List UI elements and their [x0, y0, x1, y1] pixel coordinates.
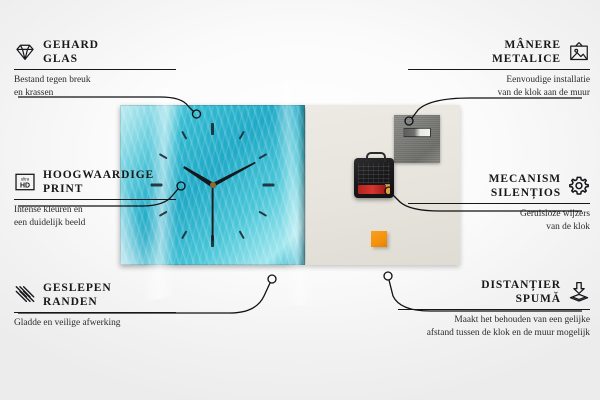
clock-second-hand — [212, 185, 214, 241]
feature-header: GEHARD GLAS — [14, 38, 190, 66]
feature-title: MÂNERE METALICE — [492, 38, 561, 66]
clock-tick — [263, 184, 275, 187]
clock-tick — [258, 153, 267, 159]
clock-hub — [210, 182, 216, 188]
mechanism-texture — [358, 163, 390, 183]
feature-distantier-spuma: DISTANȚIER SPUMĂ Maakt het behouden van … — [384, 278, 590, 340]
feature-desc: Gladde en veilige afwerking — [14, 317, 190, 330]
feature-title: MECANISM SILENȚIOS — [489, 172, 561, 200]
feature-header: DISTANȚIER SPUMĂ — [384, 278, 590, 306]
svg-text:HD: HD — [20, 183, 30, 190]
feature-title: GESLEPEN RANDEN — [43, 281, 112, 309]
clock-minute-hand — [212, 161, 256, 187]
clock-tick — [258, 211, 267, 217]
feature-header: MÂNERE METALICE — [394, 38, 590, 66]
clock-tick — [238, 131, 244, 140]
feature-desc: Intense kleuren en een duidelijk beeld — [14, 204, 190, 229]
spacer-stack-icon — [568, 281, 590, 303]
feature-title: HOOGWAARDIGE PRINT — [43, 168, 154, 196]
mechanism-hanger — [366, 152, 386, 162]
infographic-canvas: GEHARD GLAS Bestand tegen breuk en krass… — [0, 0, 600, 400]
feature-title: GEHARD GLAS — [43, 38, 99, 66]
feature-header: MECANISM SILENȚIOS — [394, 172, 590, 200]
diamond-icon — [14, 41, 36, 63]
feature-rule — [14, 199, 176, 200]
feature-rule — [398, 309, 590, 310]
feature-geslepen-randen: GESLEPEN RANDEN Gladde en veilige afwerk… — [14, 281, 190, 330]
feature-desc: Geruisloze wijzers van de klok — [394, 208, 590, 233]
feature-title: DISTANȚIER SPUMĂ — [481, 278, 561, 306]
clock-tick — [158, 153, 167, 159]
feature-desc: Eenvoudige installatie van de klok aan d… — [394, 74, 590, 99]
feature-rule — [14, 69, 176, 70]
gear-icon — [568, 175, 590, 197]
beveled-edges-icon — [14, 284, 36, 306]
clock-tick — [211, 123, 214, 135]
foam-spacer — [371, 231, 387, 247]
clock-tick — [181, 131, 187, 140]
clock-mechanism — [354, 158, 394, 198]
feature-header: GESLEPEN RANDEN — [14, 281, 190, 309]
feature-desc: Bestand tegen breuk en krassen — [14, 74, 190, 99]
feature-mecanism-silentios: MECANISM SILENȚIOS Geruisloze wijzers va… — [394, 172, 590, 234]
battery — [358, 185, 390, 194]
feature-hoogwaardige-print: ultra HD HOOGWAARDIGE PRINT Intense kleu… — [14, 168, 190, 230]
wall-frame-icon — [568, 41, 590, 63]
clock-tick — [238, 230, 244, 239]
ultra-hd-icon: ultra HD — [14, 171, 36, 193]
feature-rule — [14, 312, 176, 313]
svg-text:ultra: ultra — [21, 177, 30, 182]
feature-gehard-glas: GEHARD GLAS Bestand tegen breuk en krass… — [14, 38, 190, 100]
feature-desc: Maakt het behouden van een gelijke afsta… — [384, 314, 590, 339]
feature-rule — [408, 69, 590, 70]
clock-tick — [181, 230, 187, 239]
feature-header: ultra HD HOOGWAARDIGE PRINT — [14, 168, 190, 196]
metal-mounting-plate — [394, 115, 440, 163]
feature-rule — [408, 203, 590, 204]
plate-slot — [403, 128, 431, 137]
feature-manere-metalice: MÂNERE METALICE Eenvoudige installatie v… — [394, 38, 590, 100]
